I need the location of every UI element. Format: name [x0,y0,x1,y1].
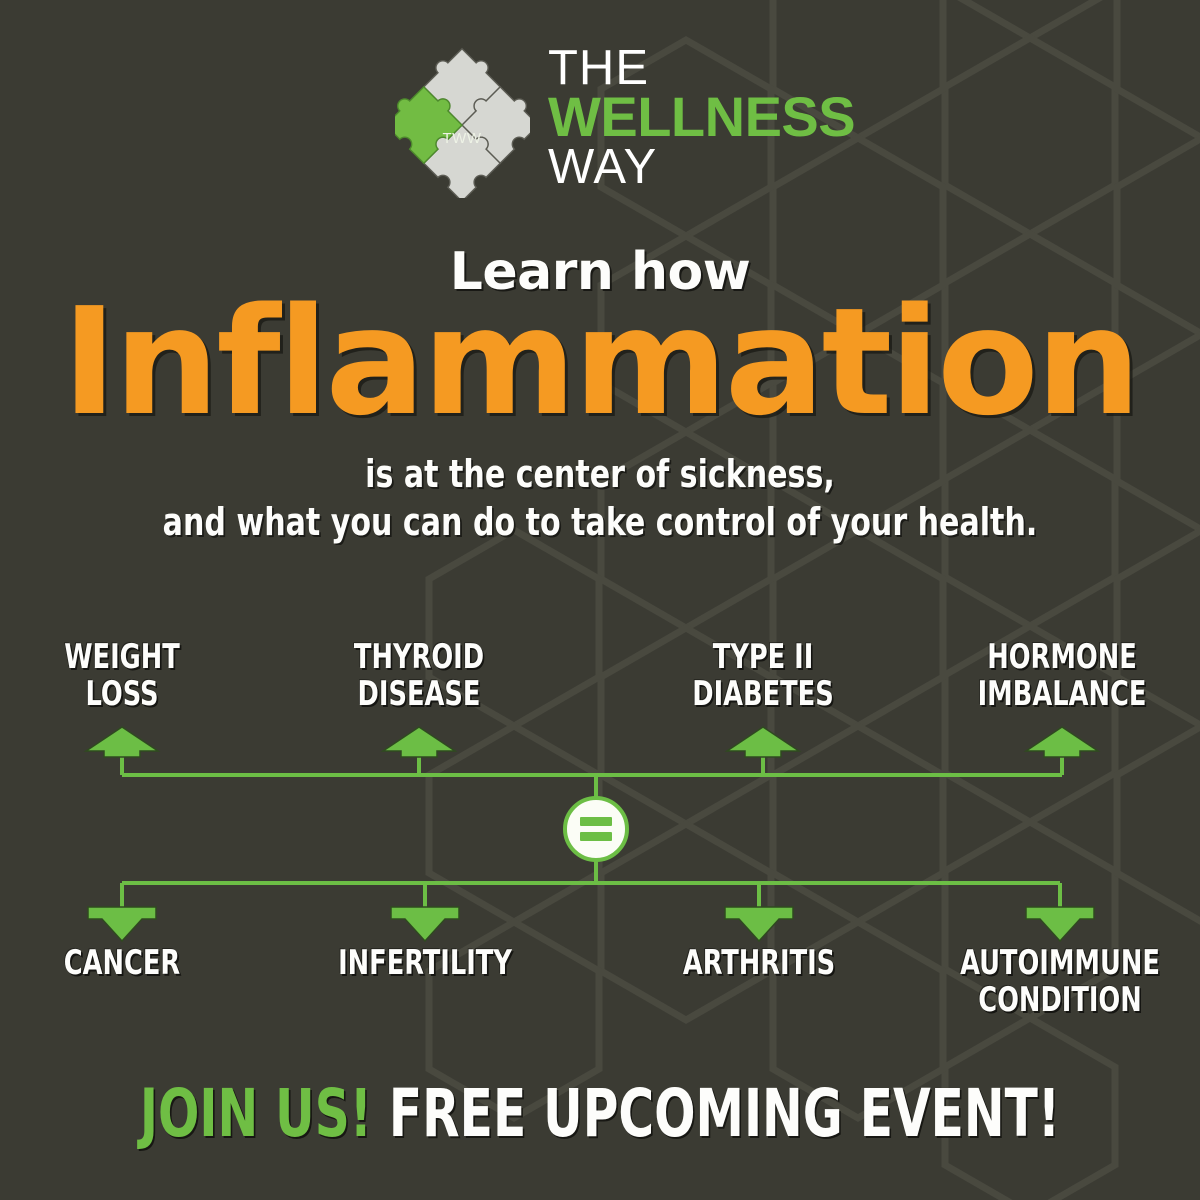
wordmark-line-wellness: WELLNESS [548,91,855,144]
arrow-up-icon [727,727,799,775]
node-label-bottom-0: CANCER [0,945,265,982]
node-label-bottom-2: ARTHRITIS [616,945,902,982]
node-label-bottom-1: INFERTILITY [282,945,568,982]
headline-main: Inflammation [0,288,1200,436]
equals-badge [565,798,627,860]
arrow-up-icon [86,727,158,775]
arrow-down-icon [1026,883,1094,941]
arrow-down-icon [725,883,793,941]
headline-sub-line-2: and what you can do to take control of y… [72,500,1128,544]
inflammation-diagram: WEIGHT LOSSTHYROID DISEASETYPE II DIABET… [0,600,1200,1040]
brand-wordmark: THE WELLNESS WAY [548,45,855,190]
brand-logo: TWW THE WELLNESS WAY [395,35,815,200]
arrow-down-icon [391,883,459,941]
node-label-bottom-3: AUTOIMMUNE CONDITION [917,945,1200,1018]
puzzle-piece-initials: TWW [443,130,482,147]
cta-rest: FREE UPCOMING EVENT! [372,1075,1060,1152]
puzzle-piece-logo: TWW [395,38,530,198]
wordmark-line-way: WAY [548,144,855,190]
headline-sub-line-1: is at the center of sickness, [72,452,1128,496]
node-label-top-0: WEIGHT LOSS [0,639,265,712]
node-label-top-1: THYROID DISEASE [276,639,562,712]
node-label-top-2: TYPE II DIABETES [620,639,906,712]
arrow-up-icon [383,727,455,775]
poster-canvas: TWW THE WELLNESS WAY Learn how Inflammat… [0,0,1200,1200]
cta-banner: JOIN US! FREE UPCOMING EVENT! [108,1075,1092,1152]
arrow-down-icon [88,883,156,941]
arrow-up-icon [1026,727,1098,775]
node-label-top-3: HORMONE IMBALANCE [919,639,1200,712]
cta-highlight: JOIN US! [140,1075,372,1152]
